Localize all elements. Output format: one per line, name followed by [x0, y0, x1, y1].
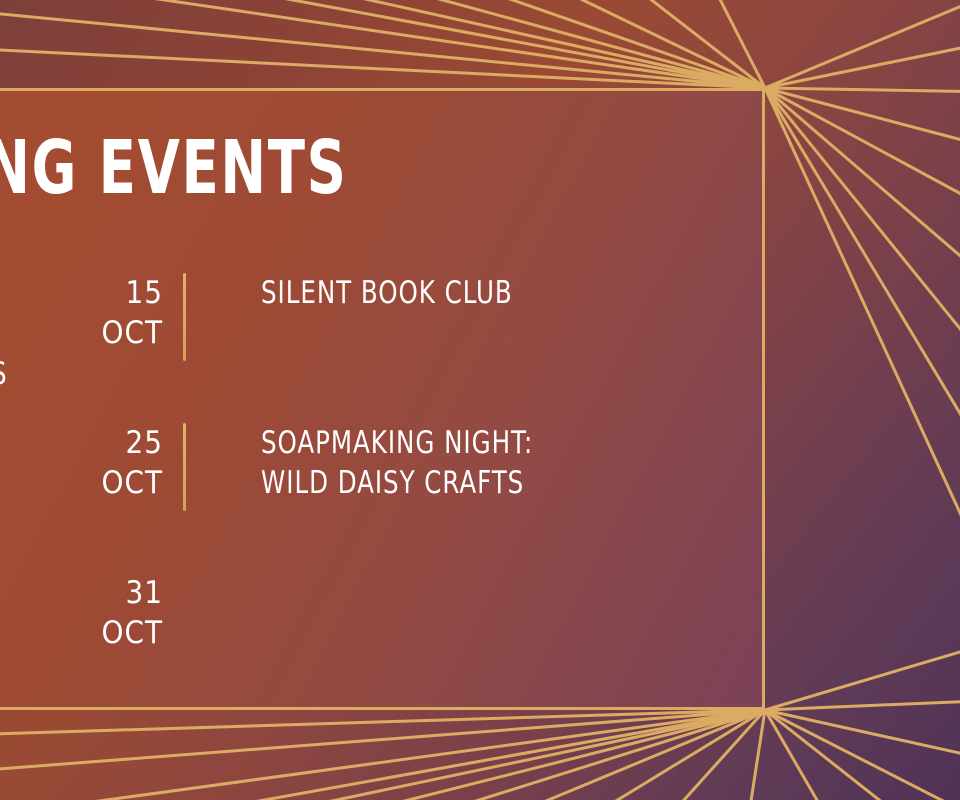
column-divider: [183, 273, 186, 361]
list-item[interactable]: SOAPMAKING NIGHT: WILD DAISY CRAFTS: [229, 423, 729, 504]
event-row: HALLOWEEN PARTY: COSTUME CRAWL 31 OCT: [0, 573, 729, 723]
event-month: OCT: [51, 613, 163, 653]
list-item[interactable]: HALLOWEEN PARTY: COSTUME CRAWL 31 OCT: [0, 573, 229, 661]
column-divider: [183, 423, 186, 511]
event-title: SILENT BOOK CLUB: [261, 273, 578, 313]
event-title: SOAPMAKING NIGHT: WILD DAISY CRAFTS: [261, 423, 578, 504]
list-item[interactable]: SILENT BOOK CLUB: [229, 273, 729, 313]
event-card-frame: UPCOMING EVENTS MODERN MAGIC MEDIA: ALCH…: [0, 88, 765, 710]
event-day: 25: [51, 423, 163, 463]
events-list: MODERN MAGIC MEDIA: ALCHEMY & POTIONS 15…: [0, 273, 729, 723]
event-row: FUNDRAISER FOR MONTINE 25 OCT SOAPMAKING…: [0, 423, 729, 573]
event-title: HALLOWEEN PARTY: COSTUME CRAWL: [0, 573, 12, 654]
list-item[interactable]: FUNDRAISER FOR MONTINE 25 OCT: [0, 423, 229, 511]
event-date: 25 OCT: [51, 423, 163, 504]
event-date: 15 OCT: [51, 273, 163, 354]
event-day: 31: [51, 573, 163, 613]
event-title: FUNDRAISER FOR MONTINE: [0, 423, 12, 504]
event-month: OCT: [51, 313, 163, 353]
event-title: MODERN MAGIC MEDIA: ALCHEMY & POTIONS: [0, 273, 12, 394]
event-month: OCT: [51, 463, 163, 503]
poster-canvas: UPCOMING EVENTS MODERN MAGIC MEDIA: ALCH…: [0, 0, 960, 800]
event-date: 31 OCT: [51, 573, 163, 654]
list-item[interactable]: MODERN MAGIC MEDIA: ALCHEMY & POTIONS 15…: [0, 273, 229, 394]
page-title: UPCOMING EVENTS: [0, 133, 348, 203]
event-day: 15: [51, 273, 163, 313]
event-row: MODERN MAGIC MEDIA: ALCHEMY & POTIONS 15…: [0, 273, 729, 423]
